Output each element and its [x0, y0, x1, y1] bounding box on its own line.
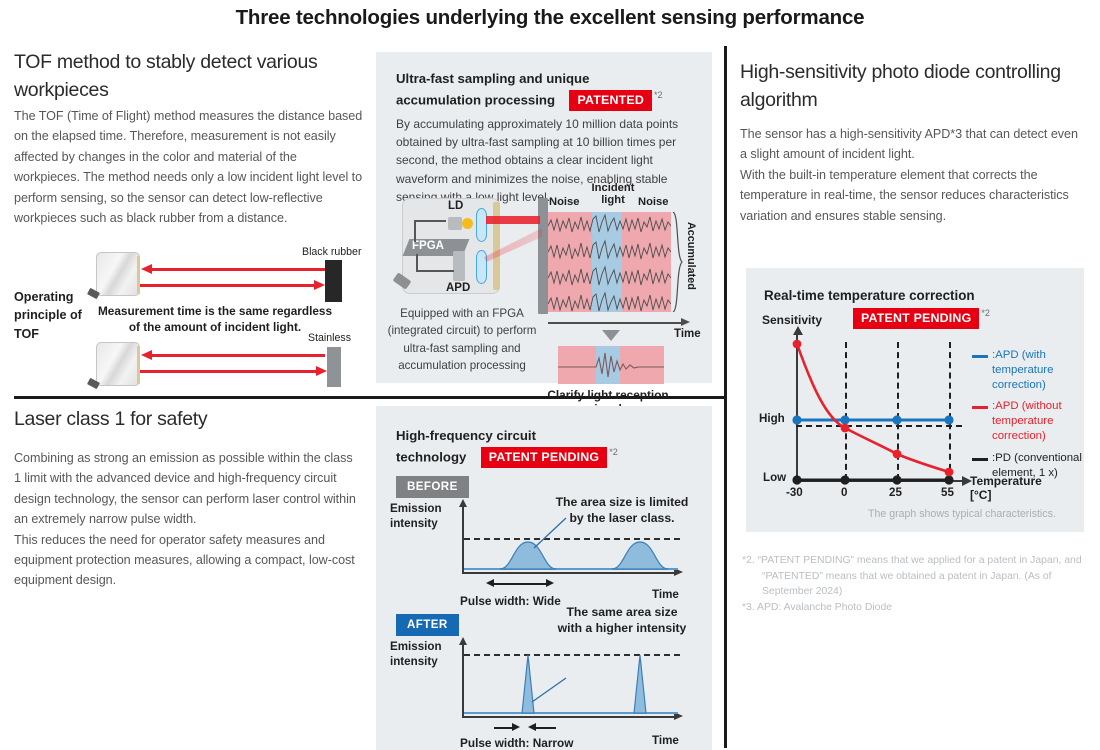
before-pw-arrow-right — [546, 579, 554, 587]
after-pw-line-right — [536, 727, 556, 729]
tof-arrowhead-return-bottom — [141, 350, 152, 360]
down-arrow-icon — [602, 330, 620, 341]
badge-patent-pending-hf: PATENT PENDING — [481, 447, 607, 468]
hf-title-line1: High-frequency circuit — [396, 426, 536, 446]
legend-label-apd-corrected: :APD (with temperature correction) — [972, 348, 1082, 392]
legend-swatch-pd — [972, 458, 988, 461]
laser-body: Combining as strong an emission as possi… — [14, 448, 362, 591]
after-pw-arrow-right — [528, 723, 536, 731]
sampling-title-line1: Ultra-fast sampling and unique — [396, 69, 589, 89]
sensor-top — [96, 252, 140, 296]
before-pw-arrow-left — [486, 579, 494, 587]
footnote-2: *2. “PATENT PENDING” means that we appli… — [742, 553, 1084, 600]
sampling-title-line2: accumulation processing — [396, 93, 555, 108]
wire-ld-down — [414, 220, 416, 242]
before-pw-arrow-group — [486, 578, 566, 590]
wire-ld-top — [414, 220, 446, 222]
tof-arrow-emit-top — [140, 284, 314, 287]
workpiece-stainless — [327, 347, 341, 387]
hf-title-line2: technology — [396, 450, 466, 465]
after-y-label: Emission intensity — [390, 640, 464, 670]
page-title: Three technologies underlying the excell… — [0, 6, 1100, 30]
tof-diagram: Operating principle of TOF Black rubber … — [0, 240, 372, 392]
lens-emitter — [476, 208, 487, 242]
divider-vertical-main — [724, 46, 727, 748]
tof-heading: TOF method to stably detect various work… — [14, 48, 366, 105]
device-apd-label: APD — [446, 282, 470, 294]
before-pulses — [462, 502, 684, 574]
before-chart — [462, 502, 694, 574]
badge-patent-pending-hf-sup: *2 — [609, 447, 618, 457]
before-x-label: Time — [652, 588, 679, 603]
apd-body: The sensor has a high-sensitivity APD*3 … — [740, 124, 1088, 226]
wire-apd-up — [416, 254, 418, 272]
time-axis-arrowhead — [681, 318, 690, 326]
device-caption: Equipped with an FPGA (integrated circui… — [382, 305, 542, 375]
before-tag-label: BEFORE — [396, 476, 469, 498]
tof-caption: Measurement time is the same regardless … — [92, 304, 338, 336]
sampling-title-row2: accumulation processing PATENTED*2 — [396, 90, 663, 111]
legend-swatch-apd-corrected — [972, 355, 988, 358]
before-tag: BEFORE — [396, 476, 469, 498]
legend-label-pd: :PD (conventional element, 1 x) — [972, 451, 1082, 481]
waveform-noise-left-label: Noise — [549, 196, 579, 208]
laser-heading: Laser class 1 for safety — [14, 405, 366, 433]
beam-emit — [486, 216, 540, 224]
apd-heading: High-sensitivity photo diode controlling… — [740, 58, 1090, 115]
device-diagram: LD FPGA APD — [390, 194, 530, 314]
before-pw-line — [492, 583, 548, 585]
tof-arrow-emit-bottom — [140, 370, 316, 373]
chart-legend: :APD (with temperature correction) :APD … — [972, 348, 1082, 481]
after-pulse-width-label: Pulse width: Narrow — [460, 736, 573, 750]
tof-arrowhead-return-top — [141, 264, 152, 274]
hf-title-row2: technology PATENT PENDING*2 — [396, 447, 618, 468]
lens-receiver — [476, 250, 487, 284]
series-apd-uncorrected — [797, 344, 949, 472]
tof-principle-label: Operating principle of TOF — [14, 288, 92, 343]
before-y-label: Emission intensity — [390, 502, 464, 532]
after-tag-label: AFTER — [396, 614, 459, 636]
panel-temperature-chart: Real-time temperature correction PATENT … — [746, 268, 1084, 532]
workpiece-top-label: Black rubber — [302, 246, 361, 258]
after-callout: The same area size with a higher intensi… — [534, 604, 710, 636]
time-axis-line — [548, 322, 681, 324]
chart-typical-note: The graph shows typical characteristics. — [868, 508, 1056, 520]
footnote-3: *3. APD: Avalanche Photo Diode — [742, 600, 1084, 616]
after-x-label: Time — [652, 734, 679, 749]
time-axis-label: Time — [674, 328, 701, 340]
waveform-noise-right-label: Noise — [638, 196, 668, 208]
workpiece-bottom-label: Stainless — [308, 332, 351, 344]
device-ld-emitter — [462, 218, 473, 229]
after-chart — [462, 640, 694, 718]
waveform-incident-label: Incident light — [590, 182, 636, 206]
device-apd-body — [453, 251, 465, 281]
badge-patented: PATENTED — [569, 90, 652, 111]
tof-body: The TOF (Time of Flight) method measures… — [14, 106, 366, 228]
tof-arrowhead-emit-top — [314, 280, 325, 290]
tof-arrow-return-bottom — [152, 354, 325, 357]
panel-hf-circuit: High-frequency circuit technology PATENT… — [376, 406, 712, 750]
after-pw-arrow-left — [512, 723, 520, 731]
tof-arrow-return-top — [152, 268, 325, 271]
accumulated-brace — [672, 212, 684, 312]
badge-patented-sup: *2 — [654, 90, 663, 100]
tof-arrowhead-emit-bottom — [316, 366, 327, 376]
legend-label-apd-uncorrected: :APD (without temperature correction) — [972, 399, 1082, 443]
legend-swatch-apd-uncorrected — [972, 406, 988, 409]
workpiece-black-rubber — [325, 260, 342, 302]
footnotes: *2. “PATENT PENDING” means that we appli… — [742, 553, 1084, 615]
chart-plot-area: High Low -30 0 25 55 — [746, 268, 1084, 532]
device-ld-body — [448, 217, 462, 230]
waveform-traces — [548, 212, 671, 312]
after-pw-arrow-group — [488, 722, 584, 734]
after-pulses — [462, 640, 684, 718]
after-pw-line-left — [494, 727, 514, 729]
accumulated-label: Accumulated — [685, 222, 697, 290]
wire-apd-horiz — [416, 270, 454, 272]
device-fpga-label: FPGA — [412, 240, 444, 252]
device-ld-label: LD — [448, 200, 463, 212]
result-trace — [558, 346, 664, 384]
panel-sampling: Ultra-fast sampling and unique accumulat… — [376, 52, 712, 383]
waveform-diagram: Noise Incident light Noise Accumulated — [546, 180, 712, 380]
infographic-root: Three technologies underlying the excell… — [0, 0, 1100, 750]
after-tag: AFTER — [396, 614, 459, 636]
sensor-bottom — [96, 342, 140, 386]
